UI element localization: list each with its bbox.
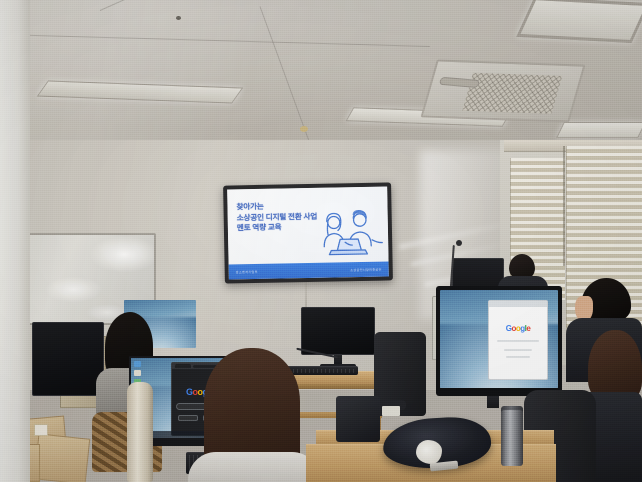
wall-column bbox=[0, 0, 30, 482]
google-letter: e bbox=[526, 324, 530, 333]
keyboard-center[interactable] bbox=[286, 366, 358, 375]
photo-scene: 찾아가는 소상공인 디지털 전환 사업 멘토 역량 교육 bbox=[0, 0, 642, 482]
browser-tab-bar[interactable] bbox=[489, 301, 547, 307]
google-search-button[interactable] bbox=[178, 415, 198, 421]
desk-label-tag bbox=[382, 406, 400, 416]
monitor-right-stand bbox=[487, 396, 499, 408]
slide-illustration bbox=[312, 208, 385, 261]
google-result-line bbox=[504, 349, 532, 351]
slide-body: 찾아가는 소상공인 디지털 전환 사업 멘토 역량 교육 bbox=[227, 186, 388, 264]
slide-footer-right: 소상공인시장진흥공단 bbox=[350, 267, 382, 273]
slide-title: 찾아가는 소상공인 디지털 전환 사업 멘토 역량 교육 bbox=[236, 201, 317, 234]
box-label bbox=[34, 424, 48, 436]
google-search-input[interactable] bbox=[497, 340, 539, 342]
person-front-center-shoulders bbox=[188, 452, 320, 482]
ceiling-smoke-detector bbox=[176, 16, 181, 20]
water-bottle[interactable] bbox=[127, 382, 153, 482]
google-result-line bbox=[506, 356, 529, 358]
browser-window-google-light[interactable]: Google bbox=[488, 300, 548, 380]
tv-cable bbox=[305, 282, 307, 308]
desktop-icon[interactable] bbox=[134, 370, 141, 376]
slide-footer-bar: 중소벤처기업부 소상공인시장진흥공단 bbox=[229, 261, 389, 279]
desktop-icon[interactable] bbox=[134, 361, 141, 367]
tv-screen: 찾아가는 소상공인 디지털 전환 사업 멘토 역량 교육 bbox=[227, 186, 389, 279]
microphone-icon bbox=[456, 240, 462, 246]
ceiling-light-panel bbox=[516, 0, 642, 43]
screen-right[interactable]: Google bbox=[440, 290, 558, 388]
monitor-back-left-frame[interactable] bbox=[32, 322, 104, 396]
tissue[interactable] bbox=[416, 440, 442, 464]
air-conditioner-vent bbox=[420, 59, 585, 122]
tumbler[interactable] bbox=[501, 410, 523, 466]
browser-tab[interactable] bbox=[175, 364, 191, 368]
vent-grille bbox=[462, 73, 562, 114]
presentation-tv[interactable]: 찾아가는 소상공인 디지털 전환 사업 멘토 역량 교육 bbox=[223, 182, 393, 283]
blind-pull-cord[interactable] bbox=[563, 146, 565, 266]
desk-speaker bbox=[336, 396, 380, 442]
slide-footer-left: 중소벤처기업부 bbox=[236, 269, 258, 274]
ceiling-light-panel bbox=[556, 122, 642, 138]
monitor-center-off[interactable] bbox=[301, 307, 375, 355]
google-logo: Google bbox=[489, 324, 547, 333]
cardboard-box bbox=[34, 433, 91, 482]
ceiling-sensor bbox=[300, 126, 308, 132]
